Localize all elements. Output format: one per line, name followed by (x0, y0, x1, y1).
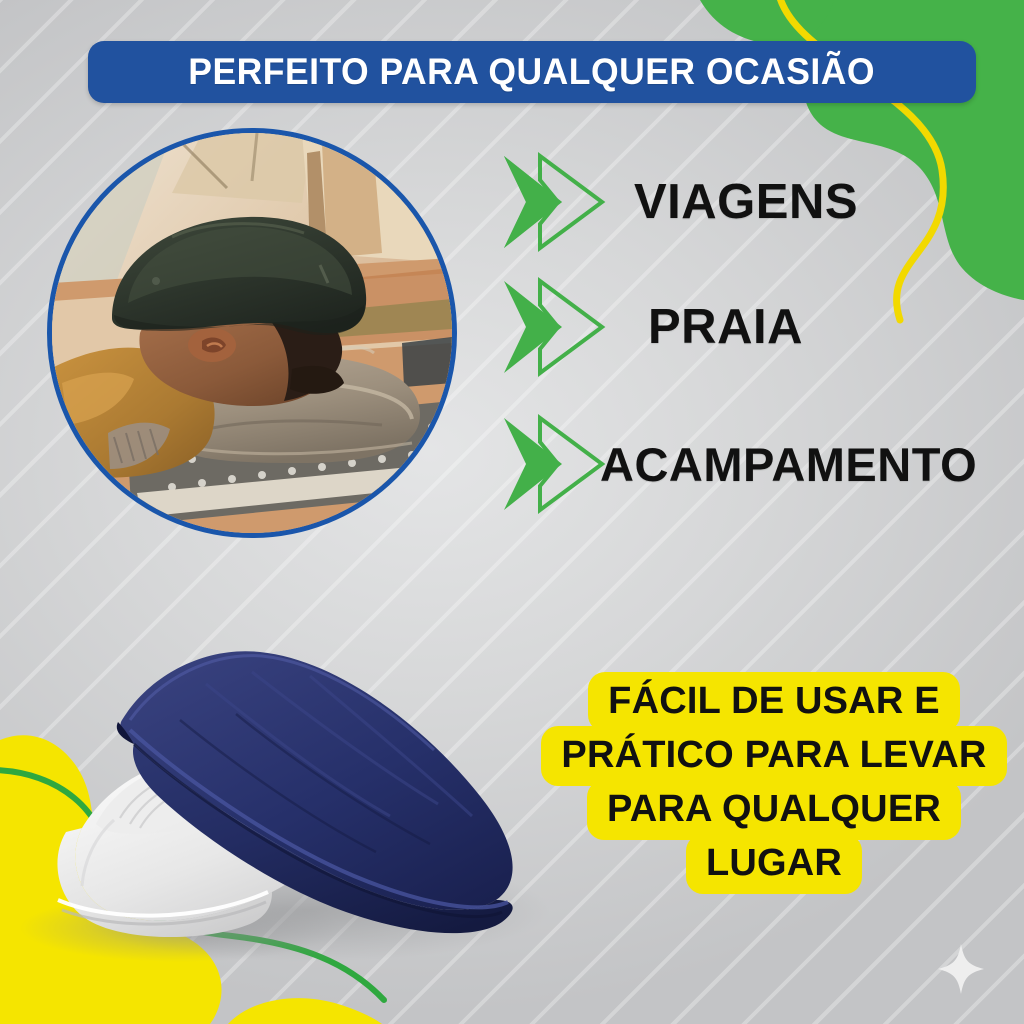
feature-label: ACAMPAMENTO (600, 437, 977, 492)
product-photo (10, 610, 570, 970)
feature-item-acampamento: ACAMPAMENTO (500, 412, 977, 516)
header-banner: PERFEITO PARA QUALQUER OCASIÃO (88, 41, 976, 103)
double-arrow-right-icon (500, 412, 612, 516)
callout-line: LUGAR (524, 834, 1024, 888)
yellow-blob-bottom-left-extra (228, 998, 382, 1024)
callout-box: FÁCIL DE USAR E PRÁTICO PARA LEVAR PARA … (524, 672, 1024, 888)
callout-line-text: PARA QUALQUER (587, 780, 961, 840)
product-pillows-illustration (10, 610, 570, 970)
callout-line: PRÁTICO PARA LEVAR (524, 726, 1024, 780)
lifestyle-photo-circle (47, 128, 457, 538)
lifestyle-photo-illustration (52, 133, 452, 533)
four-point-sparkle-icon (938, 944, 984, 994)
feature-label: VIAGENS (634, 174, 858, 230)
promo-graphic: PERFEITO PARA QUALQUER OCASIÃO (0, 0, 1024, 1024)
feature-item-viagens: VIAGENS (500, 150, 858, 254)
callout-line-text: PRÁTICO PARA LEVAR (541, 726, 1006, 786)
feature-item-praia: PRAIA (500, 275, 803, 379)
lifestyle-photo (52, 133, 452, 533)
double-arrow-right-icon (500, 150, 612, 254)
callout-line-text: LUGAR (686, 834, 862, 894)
callout-line: FÁCIL DE USAR E (524, 672, 1024, 726)
banner-title: PERFEITO PARA QUALQUER OCASIÃO (189, 51, 876, 93)
callout-line-text: FÁCIL DE USAR E (588, 672, 960, 732)
callout-line: PARA QUALQUER (524, 780, 1024, 834)
double-arrow-right-icon (500, 275, 612, 379)
feature-label: PRAIA (648, 299, 803, 355)
